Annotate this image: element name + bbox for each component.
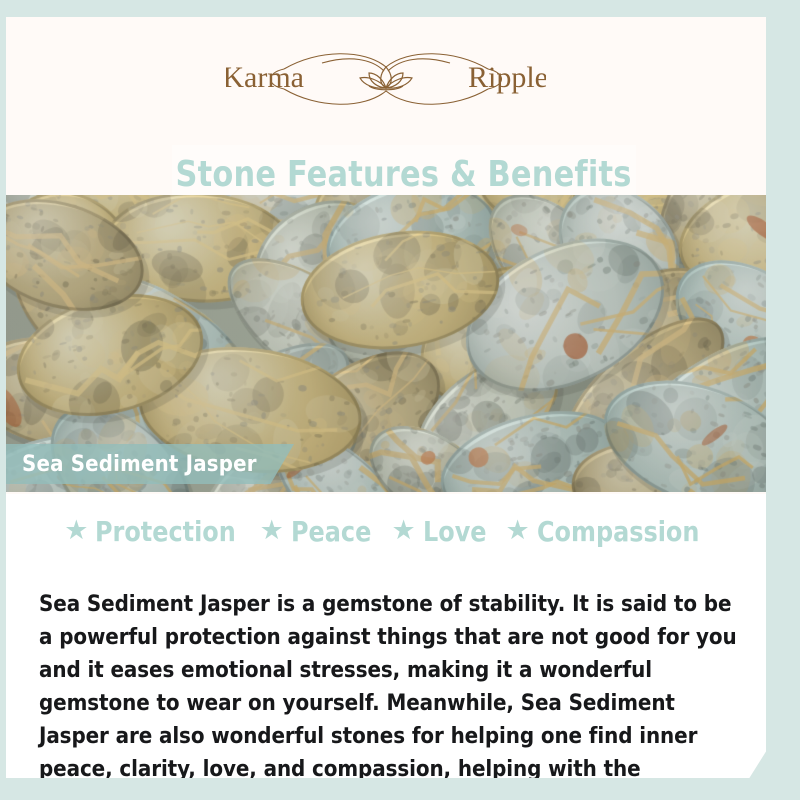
brand-logo: Karma Ripple — [226, 47, 546, 111]
benefit-label: Protection — [95, 515, 236, 548]
benefit-item: ★Love — [391, 515, 489, 548]
brand-header: Karma Ripple — [6, 17, 766, 133]
benefit-label: Peace — [291, 515, 371, 548]
page-title: Stone Features & Benefits — [176, 154, 632, 195]
stone-name-label: Sea Sediment Jasper — [22, 452, 257, 477]
benefit-label: Compassion — [537, 515, 699, 548]
content-card: Karma Ripple Stone Features & Benefits S… — [6, 17, 766, 778]
benefit-item: ★Compassion — [506, 515, 708, 548]
star-icon: ★ — [260, 517, 284, 544]
benefit-item: ★Protection — [64, 515, 243, 548]
benefit-item: ★Peace — [260, 515, 376, 548]
benefit-label: Love — [423, 515, 487, 548]
star-icon: ★ — [506, 517, 530, 544]
stone-name-banner: Sea Sediment Jasper — [6, 444, 294, 484]
stone-description: Sea Sediment Jasper is a gemstone of sta… — [39, 588, 740, 779]
benefits-list: ★Protection★Peace★Love★Compassion — [6, 515, 766, 548]
star-icon: ★ — [391, 517, 415, 544]
star-icon: ★ — [64, 517, 88, 544]
infographic-canvas: Karma Ripple Stone Features & Benefits S… — [0, 0, 800, 800]
hero-image: Sea Sediment Jasper — [6, 195, 766, 492]
brand-word-right: Ripple — [468, 61, 546, 94]
decor-band-right — [764, 0, 800, 800]
lotus-ribbon-icon: Karma Ripple — [226, 47, 546, 111]
brand-word-left: Karma — [226, 61, 304, 94]
